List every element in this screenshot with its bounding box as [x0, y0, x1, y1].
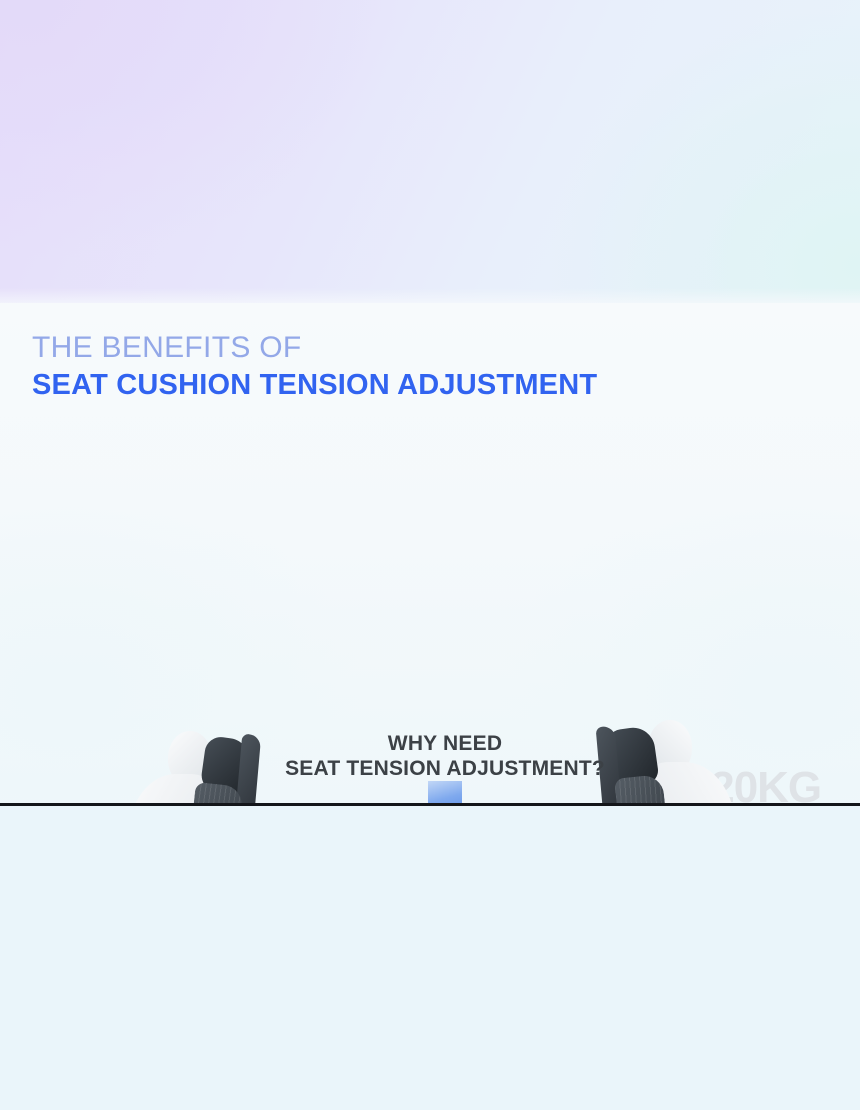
why-heading-line1: WHY NEED — [388, 732, 502, 755]
center-content: WHY NEED SEAT TENSION ADJUSTMENT? 45 — [235, 733, 655, 804]
why-heading: WHY NEED SEAT TENSION ADJUSTMENT? — [235, 733, 655, 779]
page-title: THE BENEFITS OF SEAT CUSHION TENSION ADJ… — [32, 331, 597, 402]
why-heading-line2: SEAT TENSION ADJUSTMENT? — [235, 758, 655, 779]
hero-gradient-band — [0, 0, 860, 303]
footer-area — [0, 806, 860, 1110]
title-line-1: THE BENEFITS OF — [32, 331, 597, 365]
main-panel: THE BENEFITS OF SEAT CUSHION TENSION ADJ… — [0, 303, 860, 804]
down-arrow-icon — [410, 781, 480, 804]
title-line-2: SEAT CUSHION TENSION ADJUSTMENT — [32, 368, 597, 402]
infographic-page: THE BENEFITS OF SEAT CUSHION TENSION ADJ… — [0, 0, 860, 1110]
